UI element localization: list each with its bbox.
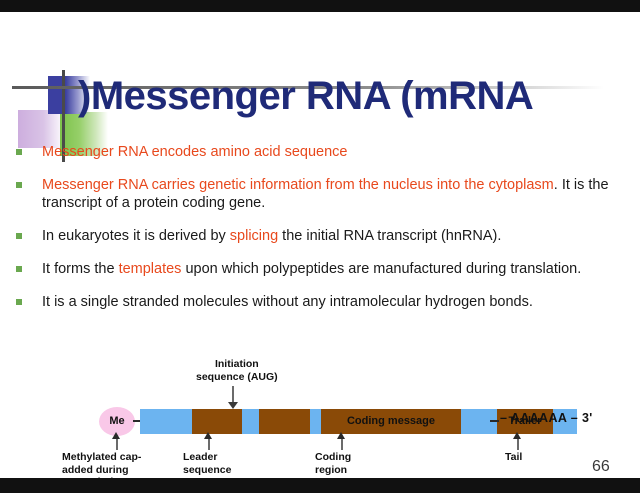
bullet-segment: Messenger RNA encodes amino acid sequenc…: [42, 144, 347, 160]
bullet-highlight: splicing: [230, 228, 278, 244]
tail-connector-dash: [490, 420, 499, 422]
bullet-text: Messenger RNA encodes amino acid sequenc…: [42, 143, 626, 161]
bullet-square-icon: [16, 182, 22, 188]
callout-coding-region: Coding region: [315, 451, 351, 476]
callout-arrow-head-cap-icon: [112, 432, 120, 439]
callout-methylated-cap: Methylated cap- added during transcripti…: [62, 451, 141, 478]
segment-brown-leader: [192, 409, 242, 434]
page-number: 66: [592, 458, 610, 476]
list-item: In eukaryotes it is derived by splicing …: [14, 227, 626, 245]
callout-cap-line1: Methylated cap-: [62, 451, 141, 464]
bullet-segment: In eukaryotes it is derived by: [42, 228, 230, 244]
callout-cap-line2: added during: [62, 464, 141, 477]
bullet-square-icon: [16, 299, 22, 305]
bullet-segment: the initial RNA transcript (hnRNA).: [278, 228, 501, 244]
bullet-square-icon: [16, 266, 22, 272]
bullet-text: It is a single stranded molecules withou…: [42, 293, 626, 311]
callout-leader-line1: Leader: [183, 451, 231, 464]
initiation-arrow-head-icon: [228, 402, 238, 409]
bullet-list: Messenger RNA encodes amino acid sequenc…: [14, 143, 626, 326]
top-letterbox-band: [0, 0, 640, 12]
bullet-segment: Messenger RNA carries genetic informatio…: [42, 177, 554, 193]
callout-arrow-head-tail-icon: [513, 432, 521, 439]
list-item: Messenger RNA encodes amino acid sequenc…: [14, 143, 626, 161]
segment-blue-1: [140, 409, 192, 434]
callout-coding-line1: Coding: [315, 451, 351, 464]
bullet-text: Messenger RNA carries genetic informatio…: [42, 176, 626, 212]
page-title: )Messenger RNA (mRNA: [78, 74, 533, 119]
list-item: It is a single stranded molecules withou…: [14, 293, 626, 311]
segment-blue-2: [242, 409, 259, 434]
callout-leader-line2: sequence: [183, 464, 231, 477]
callout-tail: Tail: [505, 451, 522, 464]
bullet-highlight: templates: [119, 261, 182, 277]
callout-tail-line1: Tail: [505, 451, 522, 464]
bottom-letterbox-band: [0, 478, 640, 493]
bullet-square-icon: [16, 149, 22, 155]
segment-brown-coding-message: Coding message: [321, 409, 461, 434]
initiation-annotation-line2: sequence (AUG): [196, 371, 278, 384]
poly-a-tail-label: – AAAAAA – 3': [500, 411, 593, 425]
bullet-square-icon: [16, 233, 22, 239]
initiation-annotation-line1: Initiation: [196, 358, 278, 371]
bullet-segment: upon which polypeptides are manufactured…: [181, 261, 581, 277]
callout-leader-sequence: Leader sequence: [183, 451, 231, 476]
bullet-segment: It forms the: [42, 261, 119, 277]
initiation-sequence-annotation: Initiation sequence (AUG): [196, 358, 278, 383]
callout-arrow-head-leader-icon: [204, 432, 212, 439]
mrna-structure-diagram: Initiation sequence (AUG) Me Coding mess…: [0, 356, 640, 478]
callout-arrow-head-coding-icon: [337, 432, 345, 439]
callout-cap-line3: transcription: [62, 476, 141, 478]
list-item: Messenger RNA carries genetic informatio…: [14, 176, 626, 212]
callout-coding-line2: region: [315, 464, 351, 477]
list-item: It forms the templates upon which polype…: [14, 260, 626, 278]
bullet-text: In eukaryotes it is derived by splicing …: [42, 227, 626, 245]
segment-blue-3: [310, 409, 321, 434]
coding-message-label: Coding message: [321, 409, 461, 434]
segment-brown-2: [259, 409, 310, 434]
bullet-segment: It is a single stranded molecules withou…: [42, 294, 533, 310]
bullet-text: It forms the templates upon which polype…: [42, 260, 626, 278]
slide-canvas: )Messenger RNA (mRNA Messenger RNA encod…: [0, 12, 640, 478]
